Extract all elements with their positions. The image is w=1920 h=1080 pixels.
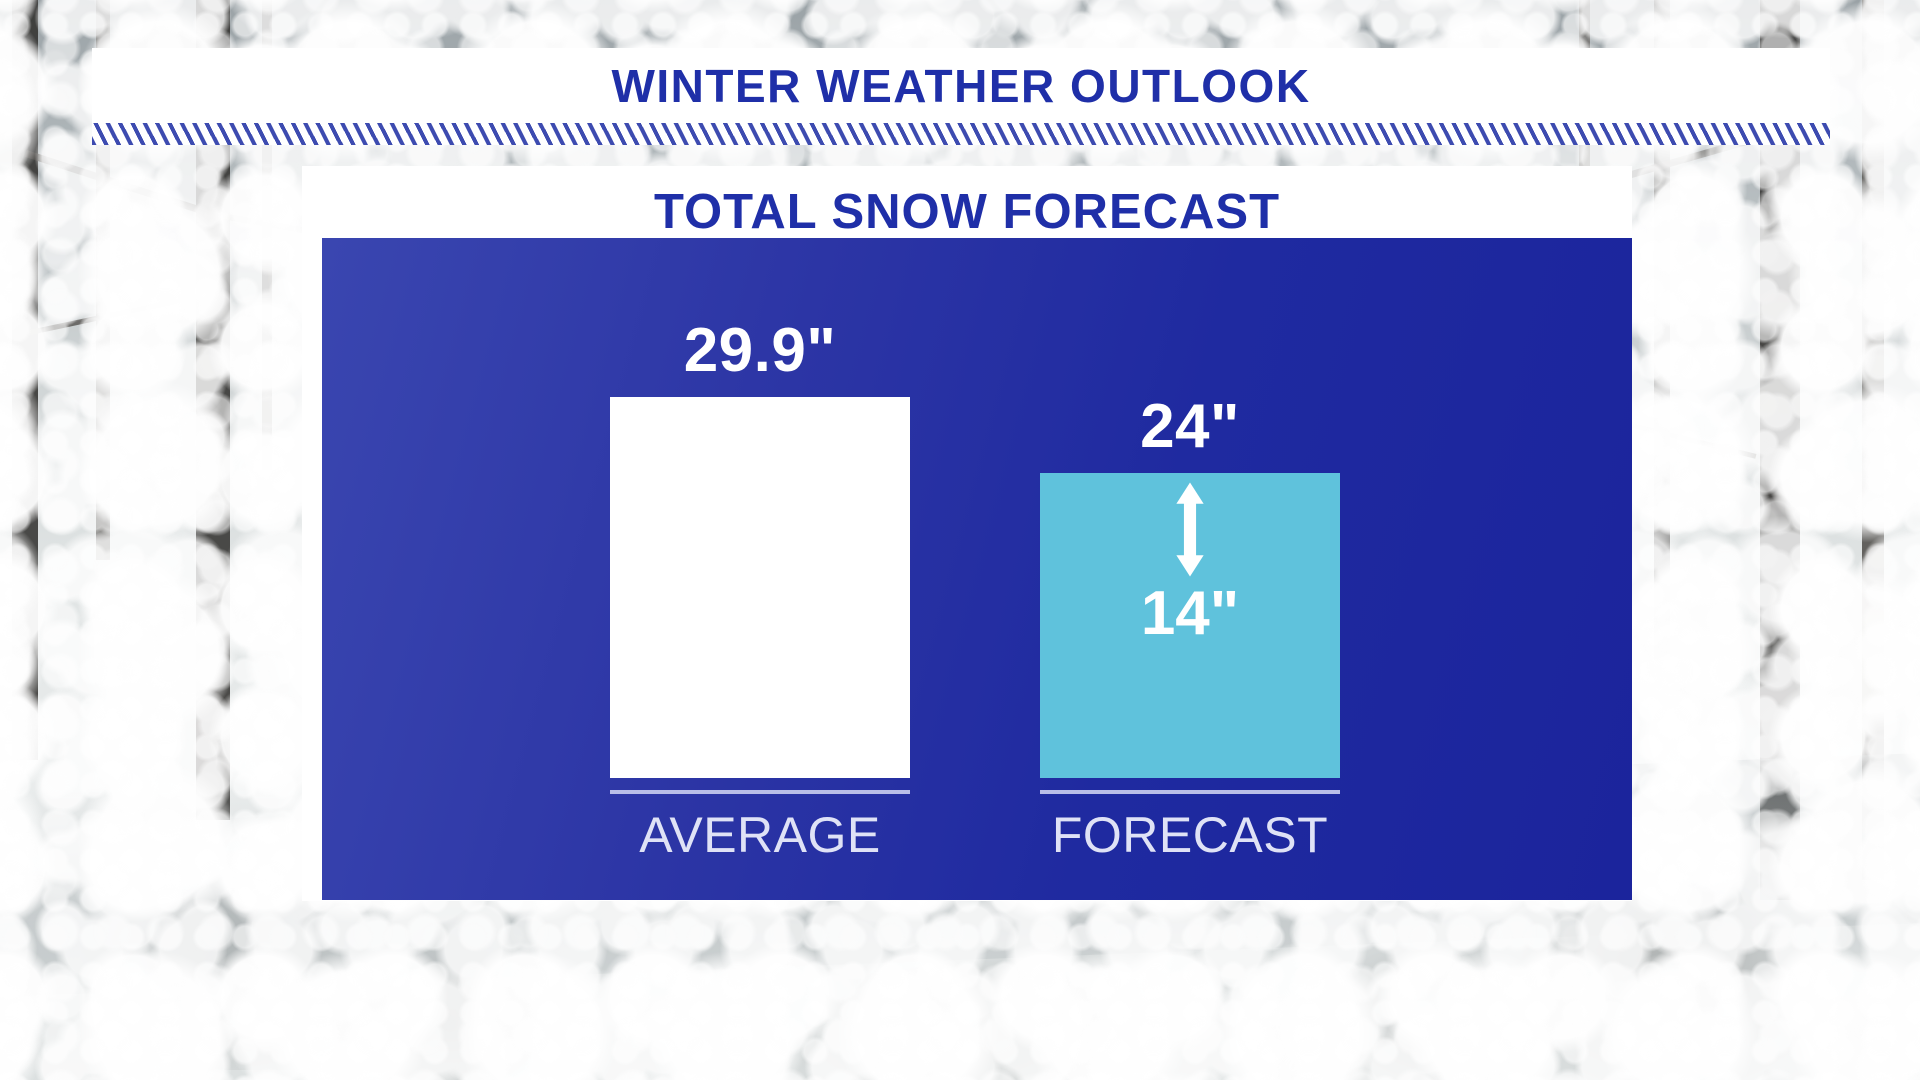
bar-column-average: 29.9" AVERAGE [610,238,910,900]
average-bar-caption: AVERAGE [610,806,910,864]
forecast-bar-caption: FORECAST [1040,806,1340,864]
forecast-card: TOTAL SNOW FORECAST 29.9" AVERAGE 24" 14… [302,166,1632,901]
card-title: TOTAL SNOW FORECAST [302,166,1632,240]
average-bar-value-label: 29.9" [610,315,910,386]
snow-forecast-bar-chart: 29.9" AVERAGE 24" 14" FORECAST [322,238,1632,900]
forecast-bar-high-value-label: 24" [1040,391,1340,462]
title-banner: WINTER WEATHER OUTLOOK [92,48,1830,123]
double-headed-arrow-icon [1161,481,1219,578]
bar-column-forecast: 24" 14" FORECAST [1040,238,1340,900]
banner-title: WINTER WEATHER OUTLOOK [611,59,1310,113]
forecast-bar-low-value-label: 14" [1040,578,1340,649]
banner-hatch-stripe [92,123,1830,145]
forecast-bar-baseline-rule [1040,790,1340,794]
average-bar [610,397,910,778]
average-bar-baseline-rule [610,790,910,794]
